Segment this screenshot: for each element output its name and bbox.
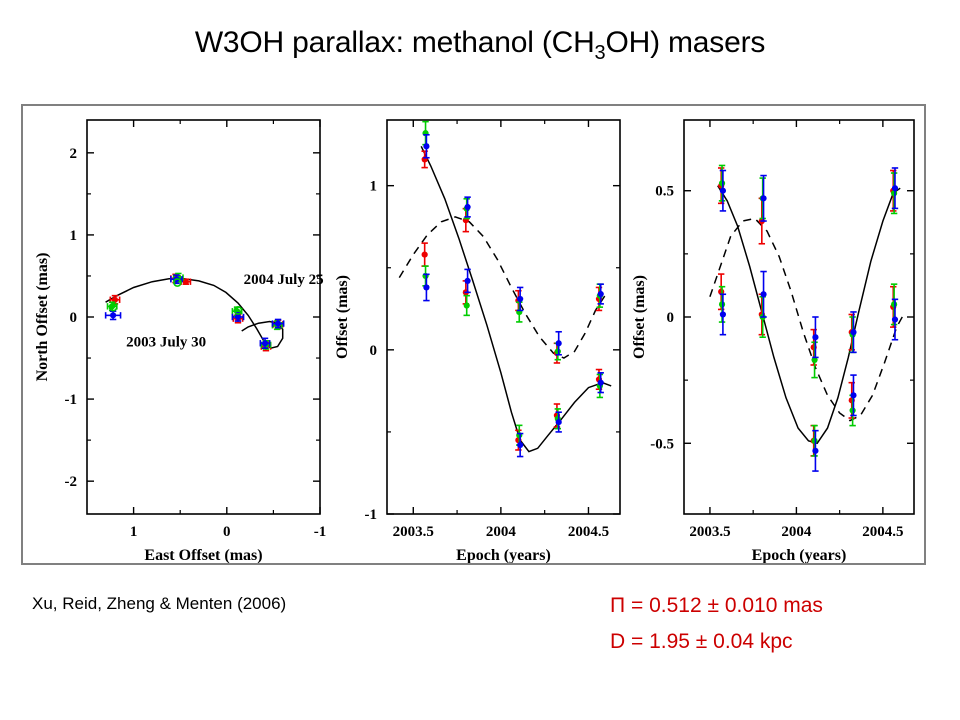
svg-text:0: 0 bbox=[370, 343, 378, 359]
page-title-part2: OH) masers bbox=[605, 26, 765, 59]
svg-text:0.5: 0.5 bbox=[655, 184, 674, 200]
svg-text:-0.5: -0.5 bbox=[650, 436, 674, 452]
page-title-part1: W3OH parallax: methanol (CH bbox=[195, 26, 595, 59]
svg-text:Epoch (years): Epoch (years) bbox=[752, 547, 847, 563]
svg-text:Offset (mas): Offset (mas) bbox=[631, 275, 648, 359]
slide-canvas: W3OH parallax: methanol (CH3OH) masers 1… bbox=[0, 0, 960, 720]
panel-north-offset: 2003.520042004.50.50-0.5Epoch (years)Off… bbox=[631, 120, 914, 563]
svg-text:0: 0 bbox=[223, 524, 231, 540]
svg-text:1: 1 bbox=[70, 228, 78, 244]
svg-text:-2: -2 bbox=[65, 474, 78, 490]
figure-container: 10-1210-1-2East Offset (mas)North Offset… bbox=[21, 104, 926, 565]
parallax-result: Π = 0.512 ± 0.010 mas bbox=[610, 588, 823, 624]
svg-text:0: 0 bbox=[667, 310, 675, 326]
svg-text:2004 July 25: 2004 July 25 bbox=[244, 272, 324, 288]
svg-text:2004: 2004 bbox=[486, 524, 517, 540]
distance-result: D = 1.95 ± 0.04 kpc bbox=[610, 624, 823, 660]
svg-text:2003.5: 2003.5 bbox=[393, 524, 434, 540]
svg-text:2: 2 bbox=[70, 146, 78, 162]
svg-text:East Offset (mas): East Offset (mas) bbox=[144, 547, 262, 563]
panel-east-offset: 2003.520042004.510-1Epoch (years)Offset … bbox=[334, 120, 620, 563]
page-title-subscript: 3 bbox=[595, 42, 606, 64]
results-block: Π = 0.512 ± 0.010 mas D = 1.95 ± 0.04 kp… bbox=[610, 588, 823, 660]
svg-text:-1: -1 bbox=[365, 507, 378, 523]
svg-text:1: 1 bbox=[370, 179, 378, 195]
svg-text:North Offset (mas): North Offset (mas) bbox=[34, 253, 51, 382]
svg-text:-1: -1 bbox=[65, 392, 78, 408]
citation-text: Xu, Reid, Zheng & Menten (2006) bbox=[32, 594, 286, 614]
svg-text:1: 1 bbox=[130, 524, 138, 540]
svg-text:2004.5: 2004.5 bbox=[568, 524, 609, 540]
svg-text:2004: 2004 bbox=[781, 524, 812, 540]
svg-text:Epoch (years): Epoch (years) bbox=[456, 547, 551, 563]
svg-text:2003 July 30: 2003 July 30 bbox=[126, 335, 206, 351]
parallax-figure: 10-1210-1-2East Offset (mas)North Offset… bbox=[23, 106, 924, 563]
page-title: W3OH parallax: methanol (CH3OH) masers bbox=[0, 26, 960, 65]
svg-text:-1: -1 bbox=[314, 524, 327, 540]
panel-sky-track: 10-1210-1-2East Offset (mas)North Offset… bbox=[34, 120, 326, 563]
svg-text:2003.5: 2003.5 bbox=[689, 524, 730, 540]
svg-text:0: 0 bbox=[70, 310, 78, 326]
svg-text:2004.5: 2004.5 bbox=[862, 524, 903, 540]
svg-text:Offset (mas): Offset (mas) bbox=[334, 275, 351, 359]
